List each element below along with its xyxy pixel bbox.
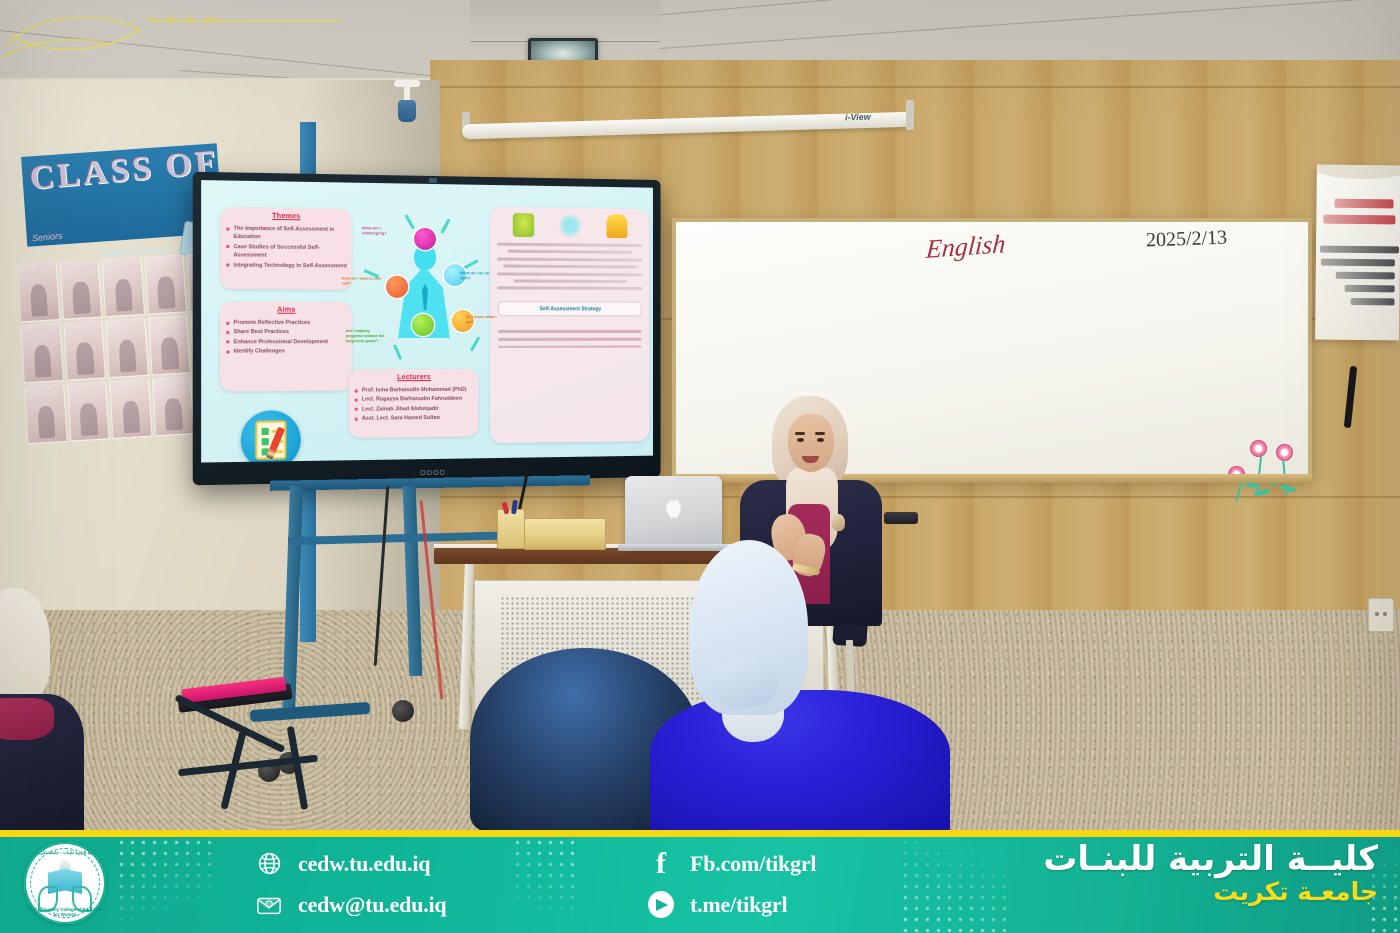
wall-power-outlet [1368, 598, 1394, 632]
footer-website-row[interactable]: cedw.tu.edu.iq [256, 843, 516, 884]
smartboard-screen: Themes The Importance of Self-Assessment… [201, 180, 653, 462]
university-crest-logo: كلية التربية للبنات - جامعة تكريت Tikrit… [24, 842, 106, 924]
brand-college-name: كليــة التربية للبنـات [948, 840, 1378, 878]
footer-facebook-row[interactable]: f Fb.com/tikgrl [648, 843, 928, 884]
crest-english-text: Tikrit University College of Education f… [24, 907, 106, 917]
photo-cell [59, 260, 102, 320]
classroom-photo: CLASS OF Seniors English Department SAY … [0, 0, 1400, 933]
photo-cell [67, 381, 110, 441]
diagram-label: Am I making progress toward the long-ter… [346, 328, 386, 344]
photo-cell [148, 315, 191, 375]
arabic-panel-badges [490, 213, 649, 239]
crest-arabic-text: كلية التربية للبنات - جامعة تكريت [24, 850, 106, 856]
footer-social-column: f Fb.com/tikgrl t.me/tikgrl [648, 843, 928, 925]
photo-cell [17, 262, 60, 322]
themes-item: Integrating Technology in Self-Assessmen… [226, 261, 347, 270]
email-label: cedw@tu.edu.iq [298, 892, 446, 918]
themes-item: The Importance of Self-Assessment in Edu… [226, 225, 347, 243]
aims-item: Share Best Practices [226, 328, 347, 337]
photo-cell [102, 257, 145, 317]
diagram-node [414, 228, 436, 250]
arabic-strip-label: Self-Assessment Strategy [498, 302, 641, 317]
lecturer-item: Lect. Rugayya Barhanudin Fahruddeen [355, 395, 475, 404]
presenter-brooch [832, 514, 845, 531]
themes-item: Case Studies of Successful Self-Assessme… [226, 243, 347, 261]
telegram-label: t.me/tikgrl [690, 892, 787, 918]
pen-holder [497, 509, 525, 549]
lecturer-item: Lect. Zainab Jihad Abdulqadir [355, 404, 475, 414]
lecturer-item: Asst. Lect. Sara Hamed Sultan [355, 414, 475, 424]
self-assessment-checklist-icon [241, 410, 301, 462]
slide-center-diagram: What am I challenging? What do I do all … [356, 213, 491, 374]
slide-card-lecturers: Lecturers Prof. Isma Barhanudin Mohammad… [349, 369, 479, 438]
footer-contact-column: cedw.tu.edu.iq cedw@tu.edu.iq [256, 843, 516, 925]
photo-cell [109, 379, 152, 439]
ceiling-vent [470, 0, 660, 42]
stand-caster-wheel [392, 700, 414, 722]
lecturers-title: Lecturers [349, 374, 479, 382]
telegram-icon [648, 892, 674, 918]
photo-cell [20, 323, 63, 383]
arabic-body-text [497, 243, 642, 291]
slide-card-aims: Aims Promote Reflective Practices Share … [220, 301, 352, 391]
presenter-face [788, 414, 834, 472]
footer-brand-block: كليــة التربية للبنـات جامعـة تكريت [948, 840, 1378, 907]
student-far-left [0, 588, 74, 838]
footer-telegram-row[interactable]: t.me/tikgrl [648, 884, 928, 925]
student-far-left-scarf [0, 698, 54, 740]
diagram-label: What do I do all right? [460, 270, 499, 281]
whiteboard-flower-drawing [1224, 434, 1316, 502]
exam-regulations-poster [1315, 165, 1400, 341]
diagram-label: Do I know what I get? [466, 314, 505, 324]
presentation-slide: Themes The Importance of Self-Assessment… [201, 180, 653, 462]
aims-item: Identify Challenges [226, 347, 347, 356]
lecturer-item: Prof. Isma Barhanudin Mohammad (PhD) [355, 386, 475, 395]
laptop[interactable] [625, 476, 722, 548]
poster-curve [1315, 165, 1400, 180]
globe-icon [256, 851, 282, 877]
envelope-icon [256, 892, 282, 918]
camera-mount-pole [404, 82, 410, 102]
diagram-label: What am I challenging? [362, 225, 402, 236]
website-label: cedw.tu.edu.iq [298, 851, 430, 877]
slide-card-themes: Themes The Importance of Self-Assessment… [220, 207, 352, 290]
smartboard-brand-logo: OOOO [420, 470, 446, 477]
circle-badge-icon [560, 214, 581, 238]
arabic-footer-text [498, 330, 641, 348]
rail-bracket-right [906, 100, 914, 130]
whiteboard-date-text: 2025/2/13 [1146, 227, 1228, 253]
photo-cell [24, 384, 67, 444]
apple-logo-icon [665, 500, 682, 519]
student-far-left-headscarf [0, 588, 50, 700]
student-foreground-center-headscarf [690, 540, 808, 715]
brand-university-name: جامعـة تكريت [948, 878, 1378, 907]
student-foreground-center-body [650, 690, 950, 840]
photo-cell [144, 254, 187, 314]
aims-item: Enhance Professional Development [226, 338, 347, 347]
diagram-node [386, 276, 408, 298]
diagram-label: How do I want a new self? [342, 275, 382, 286]
aims-title: Aims [220, 306, 352, 313]
gift-box [524, 518, 606, 550]
diagram-node [412, 314, 434, 336]
footer-dot-pattern [512, 837, 578, 933]
photo-cell [105, 318, 148, 378]
photo-cell [152, 376, 195, 436]
footer-dot-pattern [116, 837, 216, 933]
laptop-base [618, 544, 730, 551]
security-camera-icon [398, 100, 416, 122]
projector-brand-label: i-View [845, 112, 871, 123]
trophy-badge-icon [606, 214, 627, 238]
interactive-smartboard[interactable]: Themes The Importance of Self-Assessment… [193, 172, 661, 486]
whiteboard-subject-text: English [925, 229, 1006, 265]
facebook-icon: f [648, 851, 674, 877]
photo-cell [63, 320, 106, 380]
power-led-indicator [429, 178, 437, 183]
scales-badge-icon [513, 213, 534, 237]
aims-item: Promote Reflective Practices [226, 319, 347, 328]
slide-card-arabic-panel: Self-Assessment Strategy [490, 207, 649, 443]
themes-title: Themes [220, 212, 352, 221]
student-desk-frame [170, 700, 370, 840]
presenter-mouth [802, 456, 819, 463]
footer-email-row[interactable]: cedw@tu.edu.iq [256, 884, 516, 925]
facebook-label: Fb.com/tikgrl [690, 851, 816, 877]
